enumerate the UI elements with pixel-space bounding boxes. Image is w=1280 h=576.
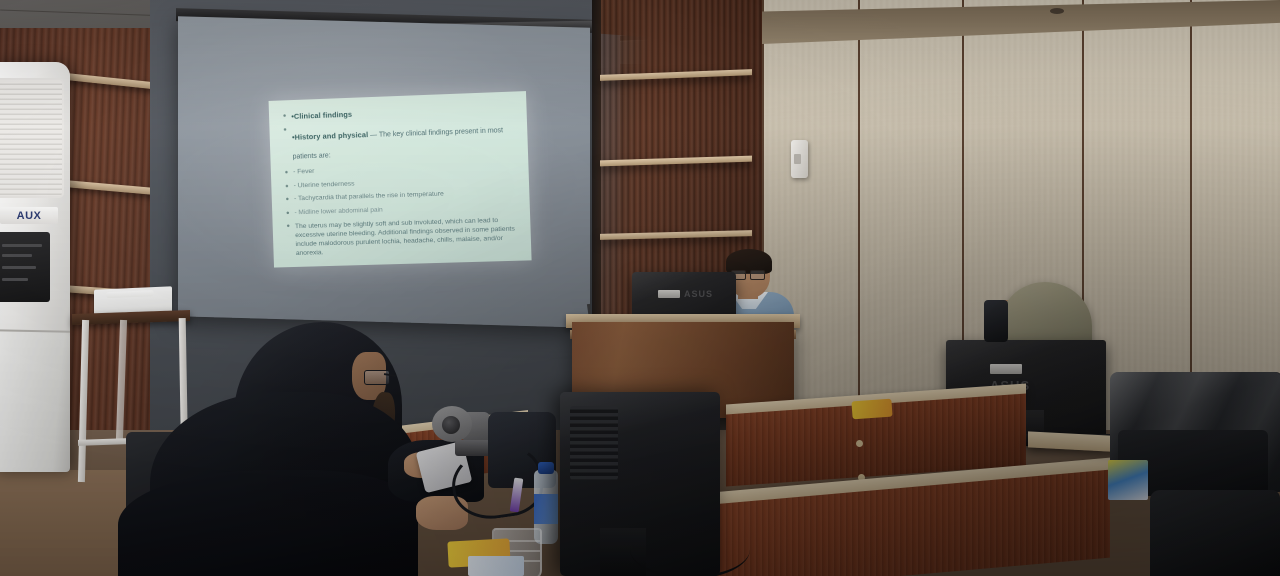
- wall-shelf: [600, 230, 752, 240]
- ac-panel-line: [2, 244, 42, 247]
- desk-device: [984, 300, 1008, 342]
- ac-brand-logo: AUX: [0, 207, 58, 224]
- product-box: [1108, 460, 1148, 500]
- chair-foreground: [1150, 490, 1280, 576]
- attendee-front-1-eyeglasses: [364, 370, 390, 385]
- slide-bullet-icon: ●: [283, 112, 287, 121]
- monitor-badge: [658, 290, 680, 298]
- ceiling-light: [1050, 8, 1064, 14]
- slide-line-text: The uterus may be slightly soft and sub …: [295, 215, 517, 258]
- cable: [630, 520, 750, 576]
- projected-slide: ● •Clinical findings ● •History and phys…: [269, 91, 532, 267]
- monitor-brand-text: ASUS: [684, 289, 713, 299]
- ac-lower-body: [0, 332, 70, 472]
- slide-line: ● •History and physical — The key clinic…: [283, 117, 514, 164]
- slide-bullet-icon: ●: [286, 222, 291, 258]
- ac-panel-line: [2, 266, 36, 269]
- slide-content: ● •Clinical findings ● •History and phys…: [269, 91, 532, 259]
- wall-shelf: [600, 156, 752, 167]
- camera-lens-icon: [442, 416, 460, 434]
- wall-panel: [1190, 0, 1280, 430]
- snack-box: [468, 556, 524, 576]
- lecture-hall-photo: ● •Clinical findings ● •History and phys…: [0, 0, 1280, 576]
- bottle-cap: [538, 462, 554, 474]
- monitor-badge: [990, 364, 1022, 374]
- slide-line-bold: •History and physical: [292, 130, 368, 142]
- slide-line-text: - Midline lower abdominal pain: [294, 202, 515, 218]
- ac-display-panel[interactable]: [0, 232, 50, 302]
- ac-panel-line: [2, 278, 28, 281]
- slide-bullet-icon: ●: [286, 209, 290, 218]
- ac-panel-line: [2, 254, 32, 257]
- bottle-label: [534, 494, 558, 524]
- slide-bullet-icon: ●: [285, 182, 289, 191]
- wall-shelf: [600, 69, 752, 81]
- ac-vent-grill: [0, 78, 64, 198]
- monitor-vent: [570, 406, 618, 480]
- snack-packet-right: [851, 399, 892, 420]
- speaker-eyeglasses: [750, 270, 765, 280]
- desk-knob[interactable]: [856, 440, 863, 447]
- ac-brand-text: AUX: [17, 210, 42, 222]
- slide-bullet-icon: ●: [283, 126, 288, 165]
- slide-bullet-icon: ●: [285, 196, 289, 205]
- slide-line-text: •History and physical — The key clinical…: [292, 117, 514, 164]
- wall-controller-icon[interactable]: [791, 140, 808, 178]
- attendee-front-2-shoulder: [118, 470, 418, 576]
- slide-line: ● The uterus may be slightly soft and su…: [286, 215, 517, 258]
- slide-bullet-icon: ●: [285, 169, 289, 178]
- speaker-eyeglasses-bridge: [744, 273, 750, 274]
